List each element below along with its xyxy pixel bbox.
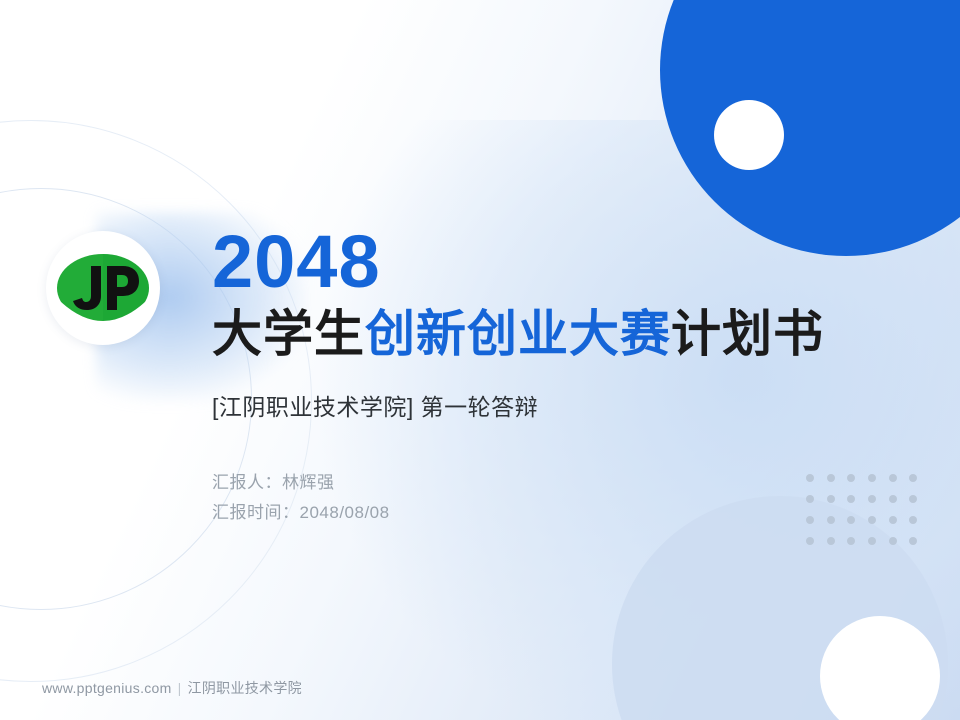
main-title-part-2: 创新创业大赛 <box>365 306 671 362</box>
decorative-white-dot <box>714 100 784 170</box>
year-label: 2048 <box>212 222 912 302</box>
footer: www.pptgenius.com | 江阴职业技术学院 <box>42 678 302 698</box>
presentation-slide: 2048 大学生创新创业大赛计划书 [江阴职业技术学院] 第一轮答辩 汇报人：林… <box>0 0 960 720</box>
main-title-part-1: 大学生 <box>212 306 365 362</box>
jp-logo-icon <box>55 240 151 336</box>
title-block: 2048 大学生创新创业大赛计划书 [江阴职业技术学院] 第一轮答辩 汇报人：林… <box>212 222 912 528</box>
main-title-part-3: 计划书 <box>671 306 824 362</box>
presentation-meta: 汇报人：林辉强 汇报时间：2048/08/08 <box>212 468 912 528</box>
presenter-line: 汇报人：林辉强 <box>212 468 912 498</box>
footer-site[interactable]: www.pptgenius.com <box>42 680 172 696</box>
report-date-line: 汇报时间：2048/08/08 <box>212 498 912 528</box>
subtitle: [江阴职业技术学院] 第一轮答辩 <box>212 392 912 422</box>
footer-org: 江阴职业技术学院 <box>188 678 302 698</box>
footer-separator: | <box>178 680 182 696</box>
main-title: 大学生创新创业大赛计划书 <box>212 304 912 364</box>
institution-logo <box>46 231 160 345</box>
